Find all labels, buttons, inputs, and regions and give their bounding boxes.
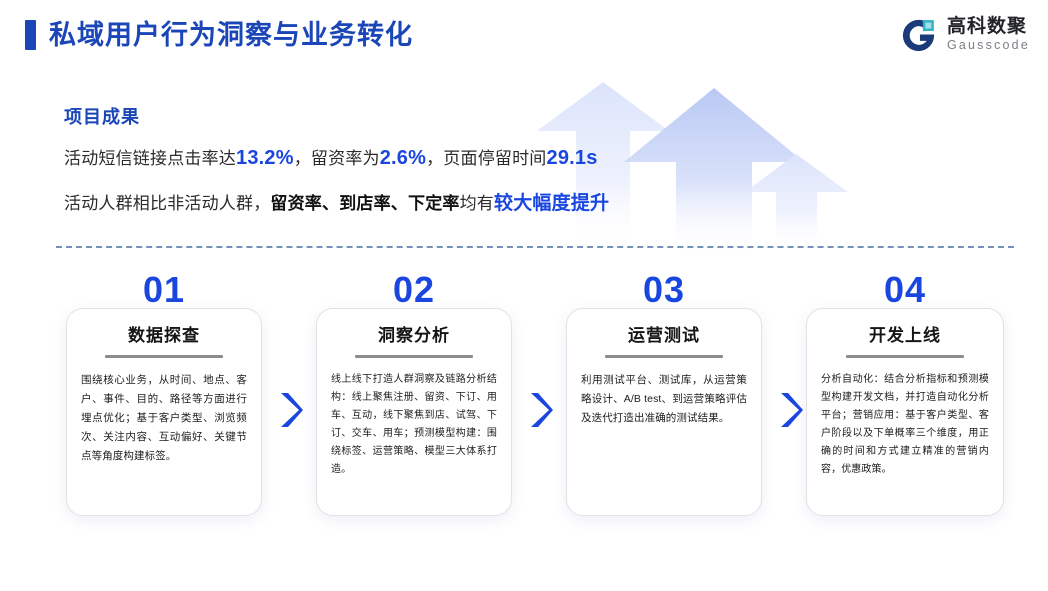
project-results-block: 项目成果 活动短信链接点击率达13.2%，留资率为2.6%，页面停留时间29.1… [64, 108, 609, 213]
step-01-card[interactable]: 数据探查 围绕核心业务，从时间、地点、客户、事件、目的、路径等方面进行埋点优化；… [66, 308, 262, 516]
results-line1-text1: 活动短信链接点击率达 [64, 149, 236, 168]
chevron-right-icon-2 [528, 390, 554, 430]
step-01-title: 数据探查 [81, 327, 247, 344]
gausscode-logo-icon [899, 16, 938, 55]
step-01-number: 01 [66, 272, 262, 308]
page-title-wrap: 私域用户行为洞察与业务转化 [25, 20, 413, 50]
step-03-card[interactable]: 运营测试 利用测试平台、测试库，从运营策略设计、A/B test、到运营策略评估… [566, 308, 762, 516]
step-04-title: 开发上线 [821, 327, 989, 344]
step-02-body: 线上线下打造人群洞察及链路分析结构：线上聚焦注册、留资、下订、用车、互动，线下聚… [331, 371, 497, 479]
page-title: 私域用户行为洞察与业务转化 [49, 22, 413, 49]
step-03-number: 03 [566, 272, 762, 308]
step-01-body: 围绕核心业务，从时间、地点、客户、事件、目的、路径等方面进行埋点优化；基于客户类… [81, 371, 247, 467]
step-04-number: 04 [806, 272, 1004, 308]
step-04-card[interactable]: 开发上线 分析自动化：结合分析指标和预测模型构建开发文档，并打造自动化分析平台；… [806, 308, 1004, 516]
step-04-rule [846, 355, 964, 358]
step-02-card[interactable]: 洞察分析 线上线下打造人群洞察及链路分析结构：线上聚焦注册、留资、下订、用车、互… [316, 308, 512, 516]
slide-header: 私域用户行为洞察与业务转化 高科数聚 Gausscode [0, 0, 1048, 78]
results-line-2: 活动人群相比非活动人群，留资率、到店率、下定率均有较大幅度提升 [64, 194, 609, 213]
stat-lead-rate: 2.6% [380, 147, 426, 169]
results-line1-text3: ，页面停留时间 [426, 149, 546, 168]
title-accent-bar [25, 20, 36, 50]
results-line2-metrics: 留资率、到店率、下定率 [270, 194, 459, 213]
chevron-right-icon-1 [278, 390, 304, 430]
step-02-number: 02 [316, 272, 512, 308]
section-divider [56, 246, 1014, 248]
step-02-title: 洞察分析 [331, 327, 497, 344]
stat-click-rate: 13.2% [236, 147, 294, 169]
results-line-1: 活动短信链接点击率达13.2%，留资率为2.6%，页面停留时间29.1s [64, 148, 609, 168]
results-line2-highlight: 较大幅度提升 [494, 193, 609, 214]
results-line1-text2: ，留资率为 [294, 149, 380, 168]
stat-dwell-time: 29.1s [547, 147, 598, 169]
arrow-center-decoration [624, 88, 804, 258]
step-03-rule [605, 355, 723, 358]
step-04-body: 分析自动化：结合分析指标和预测模型构建开发文档，并打造自动化分析平台；营销应用：… [821, 371, 989, 479]
brand-logo: 高科数聚 Gausscode [899, 16, 1030, 55]
results-heading: 项目成果 [64, 108, 609, 126]
brand-name-en: Gausscode [947, 38, 1030, 54]
slide-root: 私域用户行为洞察与业务转化 高科数聚 Gausscode 项目成果 活动短信链接… [0, 0, 1048, 591]
brand-logo-text: 高科数聚 Gausscode [947, 17, 1030, 54]
results-line2-text1: 活动人群相比非活动人群， [64, 194, 270, 213]
step-03-title: 运营测试 [581, 327, 747, 344]
brand-name-cn: 高科数聚 [947, 17, 1030, 37]
step-03-body: 利用测试平台、测试库，从运营策略设计、A/B test、到运营策略评估及迭代打造… [581, 371, 747, 428]
chevron-right-icon-3 [778, 390, 804, 430]
arrow-right-decoration [745, 154, 848, 250]
step-01-rule [105, 355, 223, 358]
step-02-rule [355, 355, 473, 358]
results-line2-text2: 均有 [460, 194, 494, 213]
process-steps: 01 数据探查 围绕核心业务，从时间、地点、客户、事件、目的、路径等方面进行埋点… [0, 272, 1048, 532]
